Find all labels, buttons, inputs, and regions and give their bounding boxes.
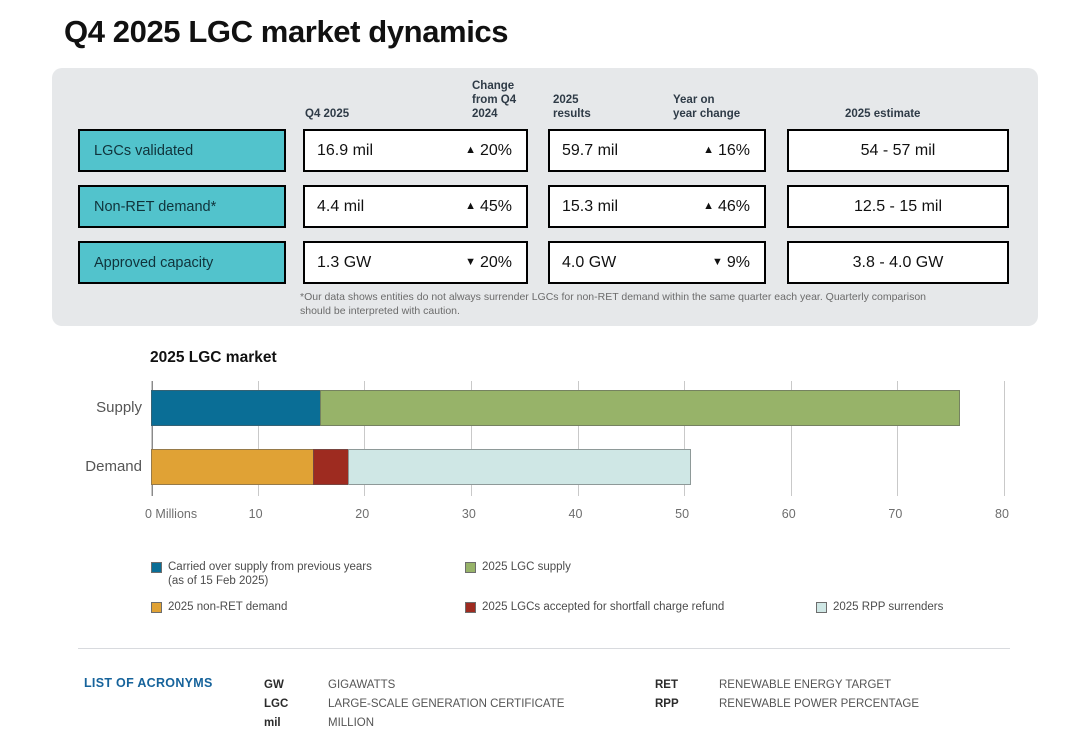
cell-value: 4.4 mil bbox=[305, 198, 364, 216]
triangle-up-icon bbox=[703, 145, 714, 156]
chart-bar-segment bbox=[348, 449, 690, 485]
page-title: Q4 2025 LGC market dynamics bbox=[64, 14, 508, 50]
table-cell-year-approved-capacity: 4.0 GW 9% bbox=[548, 241, 766, 284]
triangle-down-icon bbox=[465, 257, 476, 268]
cell-value: 4.0 GW bbox=[550, 254, 616, 272]
table-cell-year-lgcs-validated: 59.7 mil 16% bbox=[548, 129, 766, 172]
acronym-row: GWGIGAWATTS bbox=[264, 676, 644, 695]
legend-item[interactable]: 2025 non-RET demand bbox=[151, 600, 287, 614]
cell-delta-value: 16% bbox=[718, 142, 750, 160]
table-cell-estimate-non-ret-demand: 12.5 - 15 mil bbox=[787, 185, 1009, 228]
legend-swatch-icon bbox=[151, 602, 162, 613]
cell-value: 59.7 mil bbox=[550, 142, 618, 160]
cell-delta: 20% bbox=[465, 142, 526, 160]
cell-value: 16.9 mil bbox=[305, 142, 373, 160]
chart-gridline bbox=[1004, 381, 1005, 496]
acronyms-column-left: GWGIGAWATTSLGCLARGE-SCALE GENERATION CER… bbox=[264, 676, 644, 733]
acronym-key: mil bbox=[264, 714, 281, 733]
chart-category-label-supply: Supply bbox=[22, 399, 142, 416]
cell-delta: 16% bbox=[703, 142, 764, 160]
chart-bar-segment bbox=[151, 390, 321, 426]
footer-divider bbox=[78, 648, 1010, 649]
acronym-key: GW bbox=[264, 676, 284, 695]
acronym-value: RENEWABLE POWER PERCENTAGE bbox=[719, 695, 919, 714]
chart-bar-supply bbox=[151, 390, 960, 426]
legend-label: Carried over supply from previous years(… bbox=[168, 560, 372, 588]
column-header-yoy-line2: year change bbox=[673, 107, 740, 121]
cell-delta-value: 20% bbox=[480, 254, 512, 272]
legend-item[interactable]: 2025 RPP surrenders bbox=[816, 600, 943, 614]
table-footnote: *Our data shows entities do not always s… bbox=[300, 290, 950, 318]
chart-tick-label: 50 bbox=[675, 507, 689, 521]
chart-bar-demand bbox=[151, 449, 691, 485]
legend-label: 2025 LGC supply bbox=[482, 560, 571, 574]
triangle-up-icon bbox=[703, 201, 714, 212]
acronym-value: GIGAWATTS bbox=[328, 676, 395, 695]
legend-label: 2025 non-RET demand bbox=[168, 600, 287, 614]
column-header-yoy-line1: Year on bbox=[673, 93, 740, 107]
legend-item[interactable]: 2025 LGC supply bbox=[465, 560, 571, 574]
table-row-label-approved-capacity: Approved capacity bbox=[78, 241, 286, 284]
cell-delta-value: 46% bbox=[718, 198, 750, 216]
legend-item[interactable]: Carried over supply from previous years(… bbox=[151, 560, 372, 588]
legend-swatch-icon bbox=[816, 602, 827, 613]
chart-bar-segment bbox=[313, 449, 349, 485]
column-header-change-line2: from Q4 bbox=[472, 93, 516, 107]
legend-swatch-icon bbox=[465, 602, 476, 613]
column-header-results-line2: results bbox=[553, 107, 591, 121]
chart-bar-segment bbox=[320, 390, 961, 426]
cell-delta: 46% bbox=[703, 198, 764, 216]
cell-delta: 20% bbox=[465, 254, 526, 272]
table-cell-q4-approved-capacity: 1.3 GW 20% bbox=[303, 241, 528, 284]
triangle-up-icon bbox=[465, 201, 476, 212]
acronym-row: RPPRENEWABLE POWER PERCENTAGE bbox=[655, 695, 1035, 714]
column-header-change-line3: 2024 bbox=[472, 107, 516, 121]
table-cell-estimate-approved-capacity: 3.8 - 4.0 GW bbox=[787, 241, 1009, 284]
acronyms-heading: LIST OF ACRONYMS bbox=[84, 676, 213, 690]
acronym-key: RET bbox=[655, 676, 678, 695]
acronym-key: RPP bbox=[655, 695, 679, 714]
chart-tick-label: 0 Millions bbox=[145, 507, 197, 521]
table-cell-q4-lgcs-validated: 16.9 mil 20% bbox=[303, 129, 528, 172]
acronym-value: LARGE-SCALE GENERATION CERTIFICATE bbox=[328, 695, 564, 714]
cell-delta-value: 9% bbox=[727, 254, 750, 272]
legend-swatch-icon bbox=[465, 562, 476, 573]
legend-swatch-icon bbox=[151, 562, 162, 573]
acronyms-column-right: RETRENEWABLE ENERGY TARGETRPPRENEWABLE P… bbox=[655, 676, 1035, 714]
chart-tick-label: 20 bbox=[355, 507, 369, 521]
acronym-row: RETRENEWABLE ENERGY TARGET bbox=[655, 676, 1035, 695]
cell-delta: 9% bbox=[712, 254, 764, 272]
column-header-change: Change from Q4 2024 bbox=[472, 79, 516, 121]
column-header-year-on-year: Year on year change bbox=[673, 93, 740, 121]
cell-delta-value: 45% bbox=[480, 198, 512, 216]
chart-title: 2025 LGC market bbox=[150, 349, 277, 367]
column-header-change-line1: Change bbox=[472, 79, 516, 93]
chart-plot-area bbox=[151, 381, 1004, 496]
acronym-key: LGC bbox=[264, 695, 288, 714]
chart-tick-label: 30 bbox=[462, 507, 476, 521]
table-row-label-lgcs-validated: LGCs validated bbox=[78, 129, 286, 172]
cell-delta: 45% bbox=[465, 198, 526, 216]
chart-category-label-demand: Demand bbox=[22, 458, 142, 475]
chart-tick-label: 40 bbox=[569, 507, 583, 521]
table-cell-estimate-lgcs-validated: 54 - 57 mil bbox=[787, 129, 1009, 172]
infographic-page: Q4 2025 LGC market dynamics Q4 2025 Chan… bbox=[0, 0, 1090, 747]
legend-label: 2025 LGCs accepted for shortfall charge … bbox=[482, 600, 724, 614]
table-cell-year-non-ret-demand: 15.3 mil 46% bbox=[548, 185, 766, 228]
column-header-results-line1: 2025 bbox=[553, 93, 591, 107]
triangle-down-icon bbox=[712, 257, 723, 268]
cell-value: 1.3 GW bbox=[305, 254, 371, 272]
acronym-row: LGCLARGE-SCALE GENERATION CERTIFICATE bbox=[264, 695, 644, 714]
column-header-estimate: 2025 estimate bbox=[845, 107, 920, 121]
acronym-value: MILLION bbox=[328, 714, 374, 733]
chart-bar-segment bbox=[151, 449, 314, 485]
chart-tick-label: 60 bbox=[782, 507, 796, 521]
column-header-q4: Q4 2025 bbox=[305, 107, 349, 121]
triangle-up-icon bbox=[465, 145, 476, 156]
acronym-value: RENEWABLE ENERGY TARGET bbox=[719, 676, 891, 695]
cell-delta-value: 20% bbox=[480, 142, 512, 160]
table-cell-q4-non-ret-demand: 4.4 mil 45% bbox=[303, 185, 528, 228]
legend-label: 2025 RPP surrenders bbox=[833, 600, 943, 614]
chart-tick-label: 80 bbox=[995, 507, 1009, 521]
acronym-row: milMILLION bbox=[264, 714, 644, 733]
cell-value: 15.3 mil bbox=[550, 198, 618, 216]
chart-tick-label: 70 bbox=[888, 507, 902, 521]
legend-item[interactable]: 2025 LGCs accepted for shortfall charge … bbox=[465, 600, 724, 614]
table-row-label-non-ret-demand: Non-RET demand* bbox=[78, 185, 286, 228]
chart-tick-label: 10 bbox=[249, 507, 263, 521]
column-header-results: 2025 results bbox=[553, 93, 591, 121]
